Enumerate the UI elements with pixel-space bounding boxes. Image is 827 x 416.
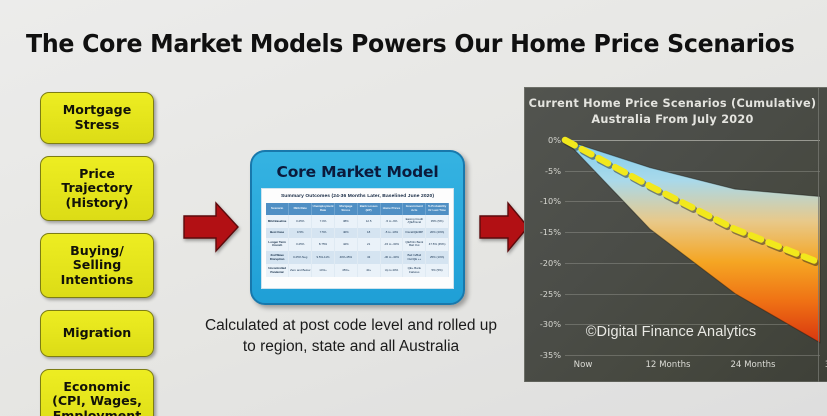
core-market-model-card[interactable]: Core Market Model Summary Outcomes (24-3… (250, 150, 465, 305)
right-arrow-icon (478, 201, 530, 253)
page-title: The Core Market Models Powers Our Home P… (26, 29, 795, 58)
table-cell: -15 to -30% (380, 238, 403, 251)
caption-line-1: Calculated at post code level and rolled… (186, 316, 516, 337)
table-cell: QE/Film Bank Bail Out (403, 238, 426, 251)
table-cell: 0.25% Neg (289, 251, 312, 264)
chart-x-axis: Now12 Months24 Months36 Mo (565, 360, 827, 378)
home-price-scenario-chart[interactable]: Current Home Price Scenarios (Cumulative… (524, 87, 827, 382)
chart-title: Current Home Price Scenarios (Cumulative… (525, 96, 820, 127)
column-header: Mortgage Stress (334, 203, 357, 215)
chart-watermark: ©Digital Finance Analytics (525, 324, 817, 340)
chart-right-border (818, 88, 820, 382)
chart-title-line-2: Australia From July 2020 (525, 112, 820, 128)
table-row: Mild Baseline 0.25% 7.0% 38% 12.5 -5 to … (266, 215, 449, 228)
table-cell: 7.0% (312, 215, 335, 228)
driver-box-economic[interactable]: Economic(CPI, Wages,Employment (40, 369, 154, 416)
table-cell: 40% (334, 228, 357, 238)
chart-y-tick-label: -5% (545, 166, 561, 176)
column-header: Unemployment Rate (312, 203, 335, 215)
table-cell: 12.5 (357, 215, 380, 228)
driver-box-label: Buying/SellingIntentions (61, 244, 134, 288)
table-cell: -5 to -9% (380, 215, 403, 228)
table-row: Uncontrolled Pandemic Zero and Below 14%… (266, 264, 449, 277)
table-cell: Best Case (266, 228, 289, 238)
driver-box-label: Economic(CPI, Wages,Employment (52, 380, 142, 416)
summary-outcomes-subtitle: Summary Outcomes (24-36 Months Later, Ba… (266, 194, 449, 199)
table-cell: 0.25% (289, 215, 312, 228)
model-caption: Calculated at post code level and rolled… (186, 316, 516, 357)
chart-bottom-border (525, 381, 827, 383)
column-header: Bank Losses (BP) (357, 203, 380, 215)
chart-y-tick-label: -20% (540, 258, 561, 268)
driver-box-buying-selling-intentions[interactable]: Buying/SellingIntentions (40, 233, 154, 298)
table-cell: 0.25% (289, 238, 312, 251)
driver-box-price-trajectory[interactable]: PriceTrajectory(History) (40, 156, 154, 221)
table-cell: 7.5% (312, 228, 335, 238)
right-arrow-icon (182, 201, 240, 253)
column-header: % Probability Or Last Time (426, 203, 449, 215)
table-cell: 20% (20%) (426, 228, 449, 238)
table-cell: Zero and Below (289, 264, 312, 277)
table-cell: Uncontrolled Pandemic (266, 264, 289, 277)
chart-y-axis: 0%-5%-10%-15%-20%-25%-30%-35% (525, 140, 561, 355)
summary-outcomes-panel: Summary Outcomes (24-36 Months Later, Ba… (261, 188, 454, 289)
chart-gridline (565, 355, 820, 356)
table-cell: 35% (5%) (426, 215, 449, 228)
table-cell: 25% (10%) (426, 251, 449, 264)
table-cell: -5 to -10% (380, 228, 403, 238)
chart-y-tick-label: -10% (540, 196, 561, 206)
table-cell: 40+ (357, 264, 380, 277)
table-cell: Mild Baseline (266, 215, 289, 228)
column-header: Scenario (266, 203, 289, 215)
table-cell: 47.5% (45%) (426, 238, 449, 251)
table-row: 2nd Wave Disruption 0.25% Neg 9.5%-11% 4… (266, 251, 449, 264)
column-header: Government Acts (403, 203, 426, 215)
driver-box-list: MortgageStress PriceTrajectory(History) … (40, 92, 154, 416)
summary-outcomes-table: Scenario RBA Rate Unemployment Rate Mort… (266, 203, 449, 278)
table-cell: 43 (357, 251, 380, 264)
driver-box-label: Migration (63, 326, 132, 341)
table-cell: 40%-45% (334, 251, 357, 264)
table-cell: Longer Term Crunch (266, 238, 289, 251)
chart-scenario-band (565, 140, 820, 343)
chart-x-tick-label: Now (574, 360, 593, 370)
table-cell: 45%+ (334, 264, 357, 277)
chart-y-tick-label: -25% (540, 289, 561, 299)
table-cell: 21 (357, 238, 380, 251)
driver-box-mortgage-stress[interactable]: MortgageStress (40, 92, 154, 144)
table-row: Best Case 0.5% 7.5% 40% 18 -5 to -10% Fi… (266, 228, 449, 238)
table-cell: Fiscal/QE/MP (403, 228, 426, 238)
chart-y-tick-label: 0% (548, 135, 561, 145)
table-cell: 5% (5%) (426, 264, 449, 277)
caption-line-2: to region, state and all Australia (186, 337, 516, 358)
table-cell: 0.5% (289, 228, 312, 238)
table-cell: 14%+ (312, 264, 335, 277)
table-cell: Bail In/Bail Out/QE ++ (403, 251, 426, 264)
chart-y-tick-label: -15% (540, 227, 561, 237)
table-cell: 42% (334, 238, 357, 251)
table-cell: 2nd Wave Disruption (266, 251, 289, 264)
table-cell: -30 to -40% (380, 251, 403, 264)
table-cell: 38% (334, 215, 357, 228)
column-header: RBA Rate (289, 203, 312, 215)
chart-x-tick-label: 24 Months (730, 360, 775, 370)
chart-title-line-1: Current Home Price Scenarios (Cumulative… (525, 96, 820, 112)
driver-box-migration[interactable]: Migration (40, 310, 154, 357)
table-cell: Up to 40% (380, 264, 403, 277)
chart-x-tick-label: 12 Months (645, 360, 690, 370)
chart-plot-area (565, 140, 820, 355)
core-market-model-title: Core Market Model (261, 163, 454, 181)
table-header-row: Scenario RBA Rate Unemployment Rate Mort… (266, 203, 449, 215)
table-cell: 8.75% (312, 238, 335, 251)
table-cell: 18 (357, 228, 380, 238)
column-header: Home Prices (380, 203, 403, 215)
table-row: Longer Term Crunch 0.25% 8.75% 42% 21 -1… (266, 238, 449, 251)
chart-fan-band (565, 140, 820, 355)
driver-box-label: MortgageStress (63, 103, 132, 132)
chart-y-tick-label: -35% (540, 350, 561, 360)
table-cell: QE+ Bank Failures (403, 264, 426, 277)
driver-box-label: PriceTrajectory(History) (61, 167, 132, 211)
table-cell: 9.5%-11% (312, 251, 335, 264)
table-cell: Easing Credit /QE/Fiscal (403, 215, 426, 228)
